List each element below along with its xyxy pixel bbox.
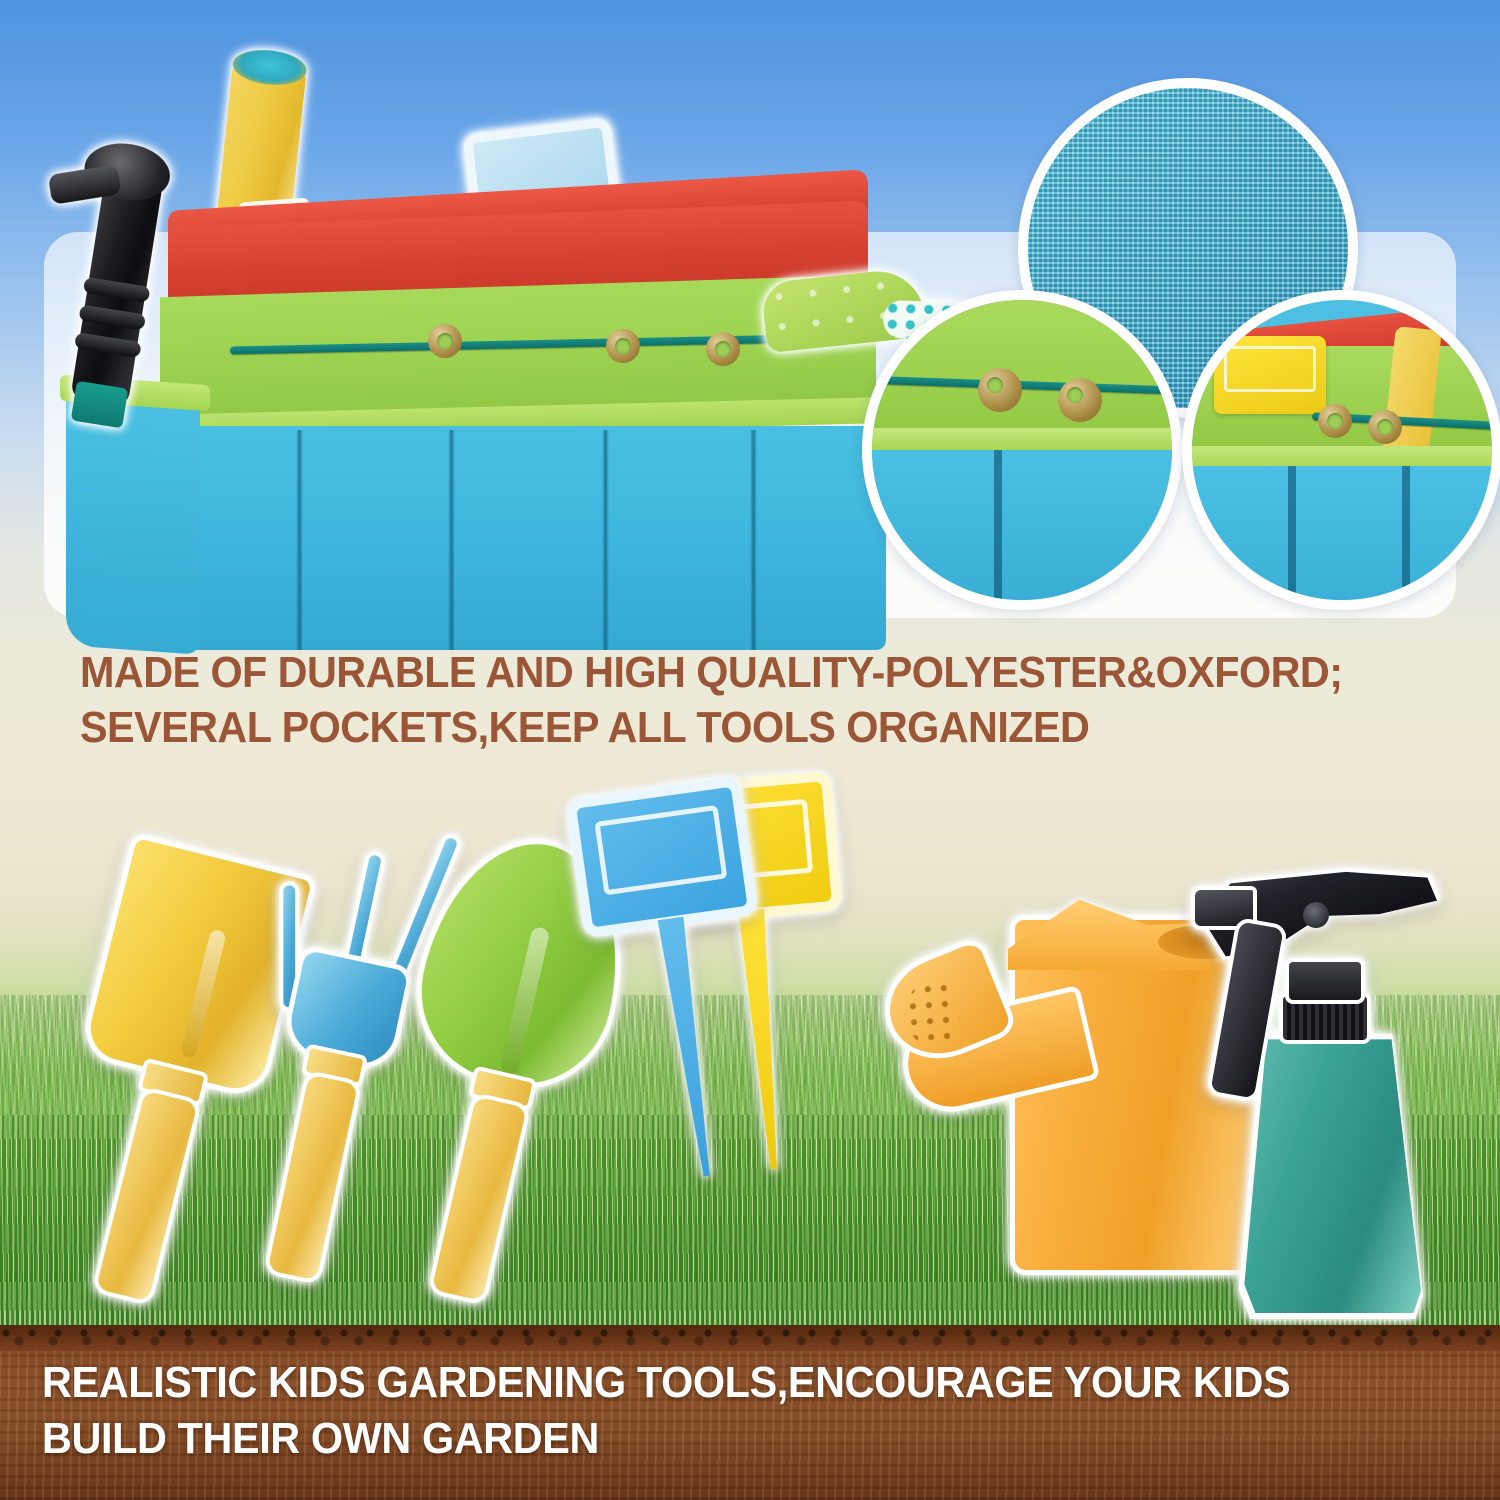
product-infographic: MADE OF DURABLE AND HIGH QUALITY-POLYEST… <box>0 0 1500 1500</box>
callout-grommet-drawstring <box>862 290 1182 610</box>
headline-top-line2: SEVERAL POCKETS,KEEP ALL TOOLS ORGANIZED <box>80 700 1377 755</box>
brass-grommet <box>706 332 740 366</box>
brass-grommet <box>978 368 1022 412</box>
headline-bottom: REALISTIC KIDS GARDENING TOOLS,ENCOURAGE… <box>42 1355 1386 1468</box>
pocket-seam <box>602 430 609 650</box>
hero-tool-bag <box>20 40 880 620</box>
yellow-plant-marker-tag <box>1214 336 1326 414</box>
headline-bottom-line2: BUILD THEIR OWN GARDEN <box>42 1411 1386 1467</box>
bag-blue-pockets <box>146 426 886 650</box>
headline-top: MADE OF DURABLE AND HIGH QUALITY-POLYEST… <box>80 645 1377 756</box>
brass-grommet <box>1368 410 1402 444</box>
headline-top-line1: MADE OF DURABLE AND HIGH QUALITY-POLYEST… <box>80 645 1377 700</box>
pocket-seam <box>296 430 303 650</box>
callout-pocket-label <box>1182 290 1500 610</box>
headline-bottom-line1: REALISTIC KIDS GARDENING TOOLS,ENCOURAGE… <box>42 1355 1386 1411</box>
pocket-seam <box>448 430 455 650</box>
brass-grommet <box>428 324 462 358</box>
pocket-seam <box>750 430 757 650</box>
brass-grommet <box>606 329 640 363</box>
tool-spray-bottle <box>1185 850 1485 1320</box>
brass-grommet <box>1318 404 1352 438</box>
tools-row <box>0 790 1500 1350</box>
brass-grommet <box>1058 378 1102 422</box>
